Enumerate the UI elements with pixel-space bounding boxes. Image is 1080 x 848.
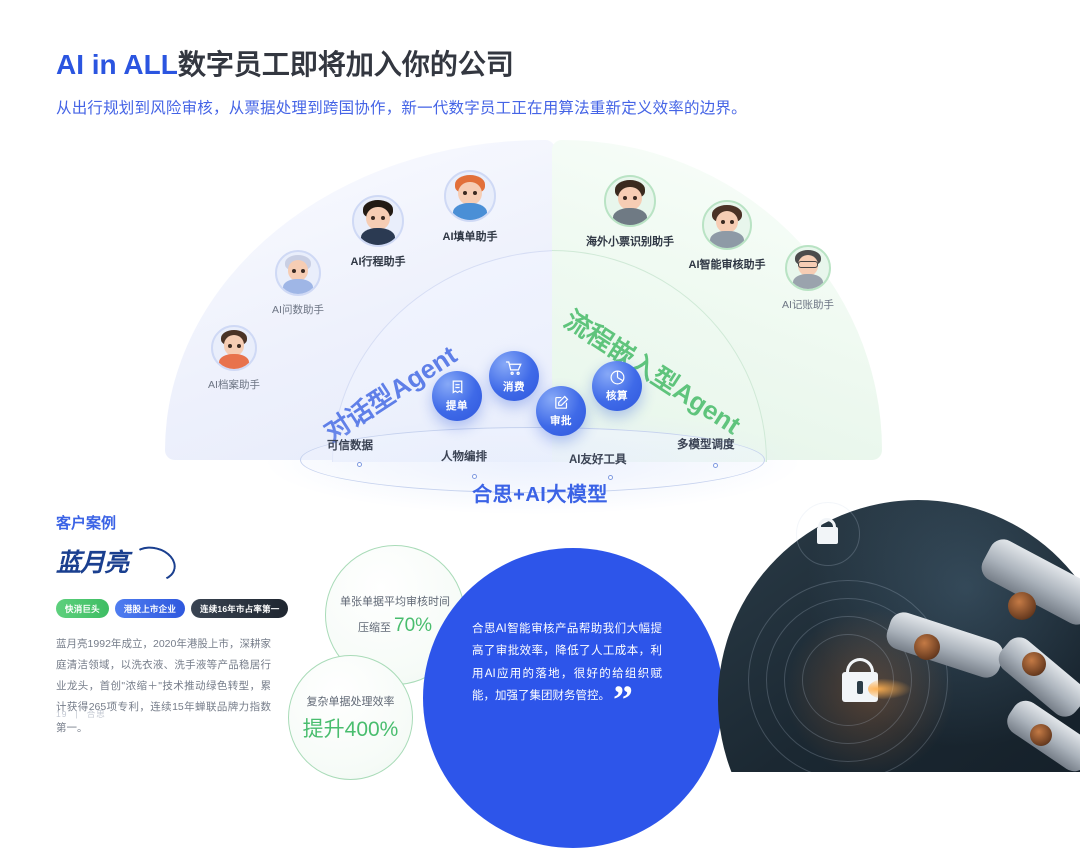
foundation-label-orchestration: 人物编排 [441,448,487,464]
footer-page-number: 19 [56,709,67,719]
spark-glow [868,678,912,700]
customer-case-title: 客户案例 [56,512,316,533]
avatar [604,175,656,227]
metric-value: 提升400% [303,713,399,743]
agent-avatar-label: AI记账助手 [760,297,856,312]
agent-avatar-label: AI填单助手 [420,228,520,244]
lock-keyhole [857,681,863,694]
foundation-label-trusted-data: 可信数据 [327,437,373,453]
customer-quote-text: 合思AI智能审核产品帮助我们大幅提高了审批效率，降低了人工成本，利用AI应用的落… [472,618,662,708]
capability-label: 审批 [550,413,572,428]
capability-bubble-accounting[interactable]: 核算 [592,361,642,411]
capability-label: 提单 [446,398,468,413]
quote-mark-icon: ” [613,688,633,712]
page-title-en: AI in ALL [56,49,178,80]
footer-left: 19|合思 [56,708,106,720]
capability-bubble-approval[interactable]: 审批 [536,386,586,436]
metric-top-text: 单张单据平均审核时间 [340,593,450,609]
robot-image-circle [718,500,1080,772]
logo-swoosh-icon [127,542,180,586]
agent-avatar-label: AI档案助手 [186,377,282,392]
pie-chart-icon [609,369,626,386]
robot-joint [1022,652,1046,676]
agent-avatar-archive[interactable]: AI档案助手 [186,325,282,392]
capability-label: 消费 [503,379,525,394]
customer-badges: 快消巨头 港股上市企业 连续16年市占率第一 [56,599,316,618]
capability-bubble-consume[interactable]: 消费 [489,351,539,401]
page-title-cn: 数字员工即将加入你的公司 [178,49,514,80]
avatar [211,325,257,371]
avatar [785,245,831,291]
receipt-icon [449,379,466,396]
page-title: AI in ALL数字员工即将加入你的公司 [56,48,1036,82]
footer-brand: 合思 [87,709,106,719]
avatar [352,195,404,247]
robot-joint [1008,592,1036,620]
agent-avatar-label: 海外小票识别助手 [575,233,685,249]
approve-icon [553,394,570,411]
customer-logo: 蓝月亮 [56,551,316,587]
metric-bubble-processing-efficiency: 复杂单据处理效率 提升400% [288,655,413,780]
avatar [444,170,496,222]
metric-value: 70% [394,615,432,636]
foundation-dot [713,463,718,468]
agent-avatar-label: AI问数助手 [250,302,346,317]
customer-logo-text: 蓝月亮 [56,551,316,576]
agent-avatar-trip[interactable]: AI行程助手 [330,195,426,269]
robot-joint [1030,724,1052,746]
glasses-icon [798,261,818,267]
lock-icon-small-body [817,527,838,544]
agent-avatar-overseas-receipt[interactable]: 海外小票识别助手 [575,175,685,249]
footer-separator: | [75,709,78,719]
agent-avatar-form-fill[interactable]: AI填单助手 [420,170,520,244]
architecture-diagram: 对话型Agent 流程嵌入型Agent AI档案助手 AI问数助手 [0,140,1080,520]
capability-label: 核算 [606,388,628,403]
foundation-dot [357,462,362,467]
capability-bubble-receipt[interactable]: 提单 [432,371,482,421]
customer-case-description: 蓝月亮1992年成立，2020年港股上市，深耕家庭清洁领域，以洗衣液、洗手液等产… [56,634,271,739]
avatar [275,250,321,296]
page-subtitle: 从出行规划到风险审核，从票据处理到跨国协作，新一代数字员工正在用算法重新定义效率… [56,96,1036,118]
agent-avatar-label: AI行程助手 [330,253,426,269]
agent-avatar-bookkeeping[interactable]: AI记账助手 [760,245,856,312]
foundation-label-multimodel: 多模型调度 [677,436,735,452]
cart-icon [505,359,523,377]
foundation-label-ai-tools: AI友好工具 [569,451,627,467]
metric-bottom-row: 压缩至 70% [358,615,432,637]
robot-hero-image: 合思|20 [718,500,1080,772]
badge-fmcg-leader: 快消巨头 [56,599,109,618]
page-header: AI in ALL数字员工即将加入你的公司 从出行规划到风险审核，从票据处理到跨… [56,48,1036,118]
badge-hk-listed: 港股上市企业 [115,599,185,618]
metric-top-text: 复杂单据处理效率 [307,693,395,709]
metric-prefix: 压缩至 [358,622,394,634]
badge-market-share: 连续16年市占率第一 [191,599,288,618]
customer-case-section: 客户案例 蓝月亮 快消巨头 港股上市企业 连续16年市占率第一 蓝月亮1992年… [56,512,316,739]
robot-joint [914,634,940,660]
avatar [702,200,752,250]
